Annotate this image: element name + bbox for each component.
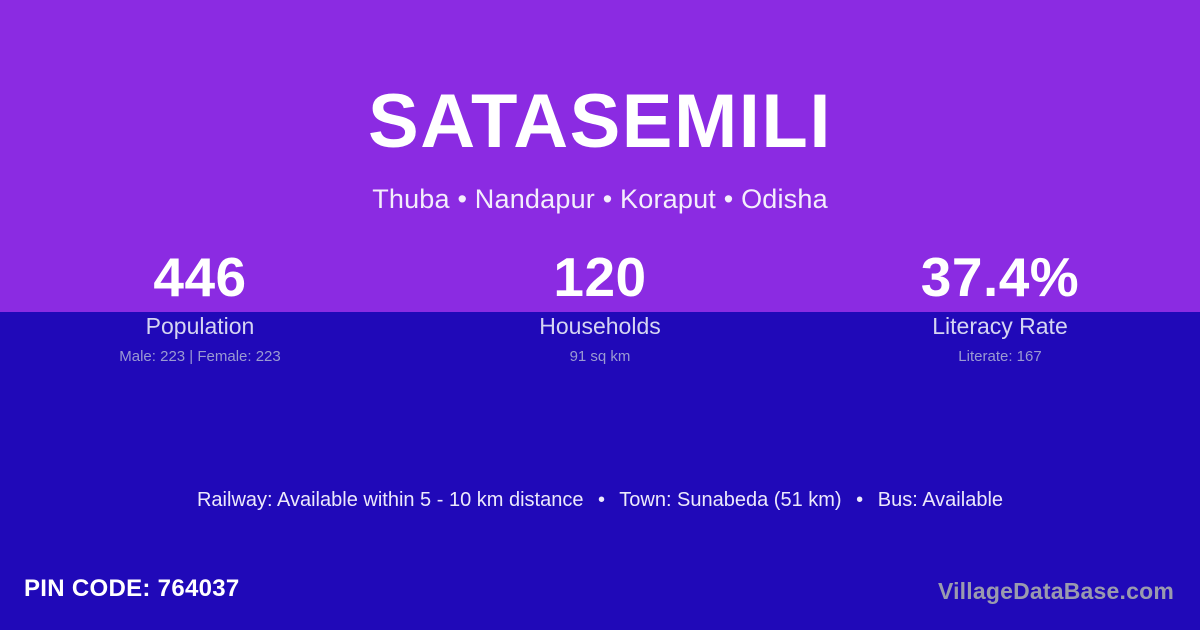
breadcrumb: Thuba • Nandapur • Koraput • Odisha	[0, 183, 1200, 215]
amenities-line: Railway: Available within 5 - 10 km dist…	[0, 486, 1200, 514]
stat-label: Literacy Rate	[800, 312, 1200, 340]
stat-detail: 91 sq km	[400, 347, 800, 366]
stat-label: Households	[400, 312, 800, 340]
stat-population: 446 Population Male: 223 | Female: 223	[0, 243, 400, 366]
stat-value: 120	[400, 243, 800, 311]
amenity-bus: Bus: Available	[878, 489, 1003, 511]
stat-value: 37.4%	[800, 243, 1200, 311]
amenity-separator: •	[847, 486, 872, 514]
amenity-town: Town: Sunabeda (51 km)	[619, 489, 841, 511]
stat-detail: Male: 223 | Female: 223	[0, 347, 400, 366]
brand-watermark: VillageDataBase.com	[938, 576, 1174, 606]
pin-code: PIN CODE: 764037	[24, 572, 240, 606]
village-info-card: SATASEMILI Thuba • Nandapur • Koraput • …	[0, 0, 1200, 630]
stat-value: 446	[0, 243, 400, 311]
page-title: SATASEMILI	[0, 84, 1200, 160]
stat-literacy-rate: 37.4% Literacy Rate Literate: 167	[800, 243, 1200, 366]
amenity-separator: •	[589, 486, 614, 514]
amenity-railway: Railway: Available within 5 - 10 km dist…	[197, 489, 583, 511]
stat-households: 120 Households 91 sq km	[400, 243, 800, 366]
footer: PIN CODE: 764037 VillageDataBase.com	[0, 572, 1200, 618]
stat-label: Population	[0, 312, 400, 340]
stat-detail: Literate: 167	[800, 347, 1200, 366]
stats-row: 446 Population Male: 223 | Female: 223 1…	[0, 243, 1200, 366]
